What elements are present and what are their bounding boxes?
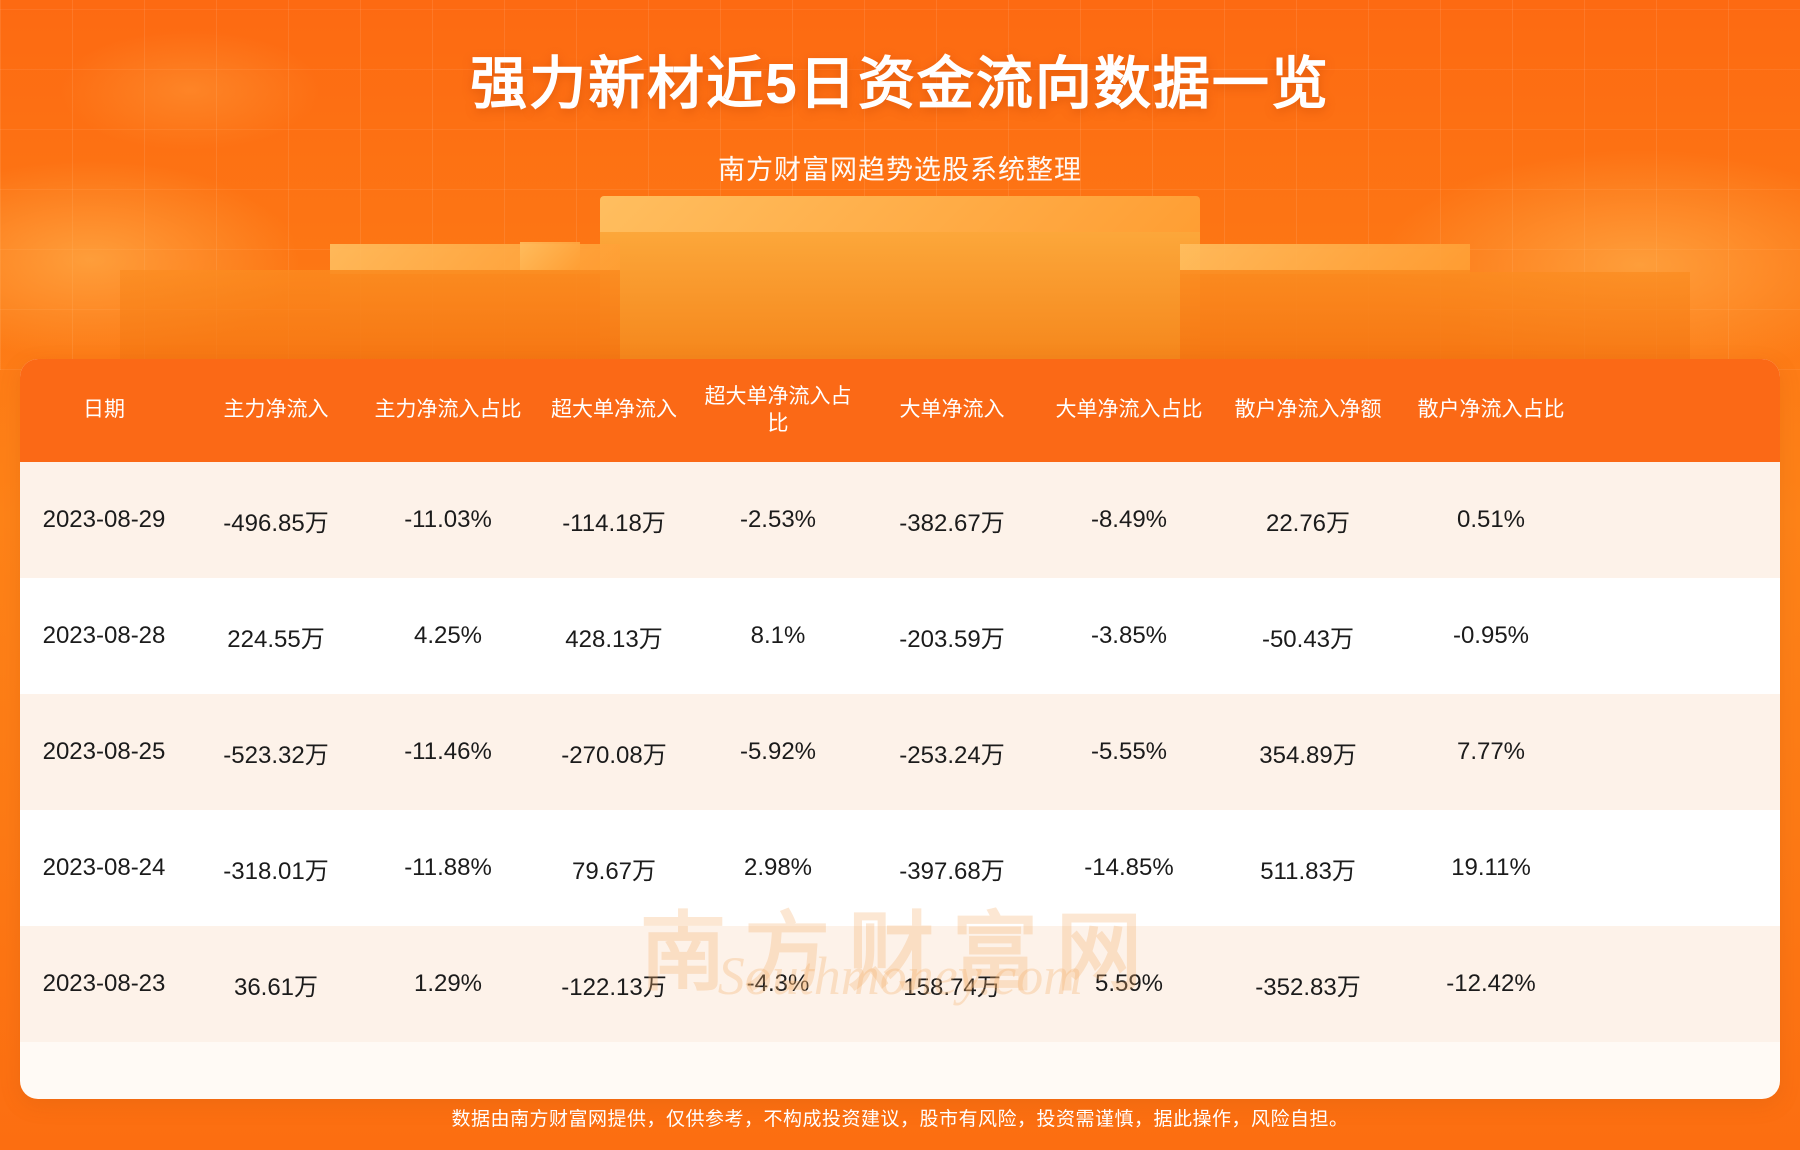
cell-lg-net: -397.68万 xyxy=(860,851,1044,886)
cell-main-pct: -11.03% xyxy=(364,506,532,534)
cell-xl-pct: 8.1% xyxy=(696,622,860,650)
cell-date: 2023-08-25 xyxy=(20,738,188,766)
cell-xl-pct: -4.3% xyxy=(696,970,860,998)
cell-retail-net: -50.43万 xyxy=(1214,619,1402,654)
podium-left-top xyxy=(330,244,620,274)
cell-main-net: -496.85万 xyxy=(188,503,364,538)
cell-main-net: 224.55万 xyxy=(188,619,364,654)
podium-small-block xyxy=(520,242,580,270)
cell-lg-net: -382.67万 xyxy=(860,503,1044,538)
cell-xl-pct: -2.53% xyxy=(696,506,860,534)
cell-lg-net: -203.59万 xyxy=(860,619,1044,654)
column-header-lg-pct: 大单净流入占比 xyxy=(1044,397,1214,424)
cell-retail-pct: -0.95% xyxy=(1402,622,1580,650)
cell-xl-net: -270.08万 xyxy=(532,735,696,770)
cell-date: 2023-08-29 xyxy=(20,506,188,534)
podium-center-top xyxy=(600,196,1200,236)
cell-main-net: -318.01万 xyxy=(188,851,364,886)
page-title: 强力新材近5日资金流向数据一览 xyxy=(0,38,1800,120)
cell-lg-pct: -3.85% xyxy=(1044,622,1214,650)
cell-lg-net: -253.24万 xyxy=(860,735,1044,770)
column-header-date: 日期 xyxy=(20,397,188,424)
column-header-lg-net: 大单净流入 xyxy=(860,397,1044,424)
cell-retail-pct: -12.42% xyxy=(1402,970,1580,998)
cell-lg-pct: -8.49% xyxy=(1044,506,1214,534)
poster-root: 强力新材近5日资金流向数据一览 南方财富网趋势选股系统整理 南方财富网 Sout… xyxy=(0,0,1800,1150)
column-header-main-net: 主力净流入 xyxy=(188,397,364,424)
podium-right-top xyxy=(1180,244,1470,274)
cell-retail-net: -352.83万 xyxy=(1214,967,1402,1002)
podium-right-front xyxy=(1180,270,1470,365)
page-subtitle: 南方财富网趋势选股系统整理 xyxy=(0,148,1800,187)
table-row: 2023-08-29 -496.85万 -11.03% -114.18万 -2.… xyxy=(20,462,1780,578)
cell-retail-pct: 7.77% xyxy=(1402,738,1580,766)
podium-far-left xyxy=(120,270,330,365)
table-row: 2023-08-25 -523.32万 -11.46% -270.08万 -5.… xyxy=(20,694,1780,810)
table-row: 2023-08-24 -318.01万 -11.88% 79.67万 2.98%… xyxy=(20,810,1780,926)
column-header-main-pct: 主力净流入占比 xyxy=(364,397,532,424)
cell-xl-net: -114.18万 xyxy=(532,503,696,538)
cell-lg-pct: -14.85% xyxy=(1044,854,1214,882)
cell-lg-pct: 5.59% xyxy=(1044,970,1214,998)
data-card: 南方财富网 Southmoney.com 日期 主力净流入 主力净流入占比 超大… xyxy=(20,359,1780,1099)
disclaimer-text: 数据由南方财富网提供，仅供参考，不构成投资建议，股市有风险，投资需谨慎，据此操作… xyxy=(0,1104,1800,1131)
cell-date: 2023-08-28 xyxy=(20,622,188,650)
cell-main-pct: 4.25% xyxy=(364,622,532,650)
glow-left xyxy=(0,160,300,360)
table-header-row: 日期 主力净流入 主力净流入占比 超大单净流入 超大单净流入占比 大单净流入 大… xyxy=(20,359,1780,462)
column-header-retail-pct: 散户净流入占比 xyxy=(1402,397,1580,424)
column-header-xl-net: 超大单净流入 xyxy=(532,397,696,424)
cell-date: 2023-08-24 xyxy=(20,854,188,882)
cell-xl-pct: -5.92% xyxy=(696,738,860,766)
cell-xl-pct: 2.98% xyxy=(696,854,860,882)
cell-lg-pct: -5.55% xyxy=(1044,738,1214,766)
cell-main-net: 36.61万 xyxy=(188,967,364,1002)
column-header-xl-pct: 超大单净流入占比 xyxy=(696,384,860,438)
podium-left-front xyxy=(330,270,620,365)
cell-date: 2023-08-23 xyxy=(20,970,188,998)
cell-retail-net: 511.83万 xyxy=(1214,851,1402,886)
podium-center-front xyxy=(600,232,1200,362)
cell-main-pct: -11.88% xyxy=(364,854,532,882)
hero-section: 强力新材近5日资金流向数据一览 南方财富网趋势选股系统整理 xyxy=(0,0,1800,187)
cell-main-net: -523.32万 xyxy=(188,735,364,770)
cell-lg-net: 158.74万 xyxy=(860,967,1044,1002)
column-header-retail-net: 散户净流入净额 xyxy=(1214,397,1402,424)
cell-main-pct: -11.46% xyxy=(364,738,532,766)
cell-retail-net: 22.76万 xyxy=(1214,503,1402,538)
cell-main-pct: 1.29% xyxy=(364,970,532,998)
cell-retail-pct: 0.51% xyxy=(1402,506,1580,534)
cell-retail-net: 354.89万 xyxy=(1214,735,1402,770)
podium-far-right xyxy=(1470,272,1690,365)
cell-xl-net: 428.13万 xyxy=(532,619,696,654)
table-body: 2023-08-29 -496.85万 -11.03% -114.18万 -2.… xyxy=(20,462,1780,1042)
cell-xl-net: -122.13万 xyxy=(532,967,696,1002)
footer: 数据由南方财富网提供，仅供参考，不构成投资建议，股市有风险，投资需谨慎，据此操作… xyxy=(0,1104,1800,1131)
table-row: 2023-08-28 224.55万 4.25% 428.13万 8.1% -2… xyxy=(20,578,1780,694)
table-row: 2023-08-23 36.61万 1.29% -122.13万 -4.3% 1… xyxy=(20,926,1780,1042)
cell-retail-pct: 19.11% xyxy=(1402,854,1580,882)
cell-xl-net: 79.67万 xyxy=(532,851,696,886)
